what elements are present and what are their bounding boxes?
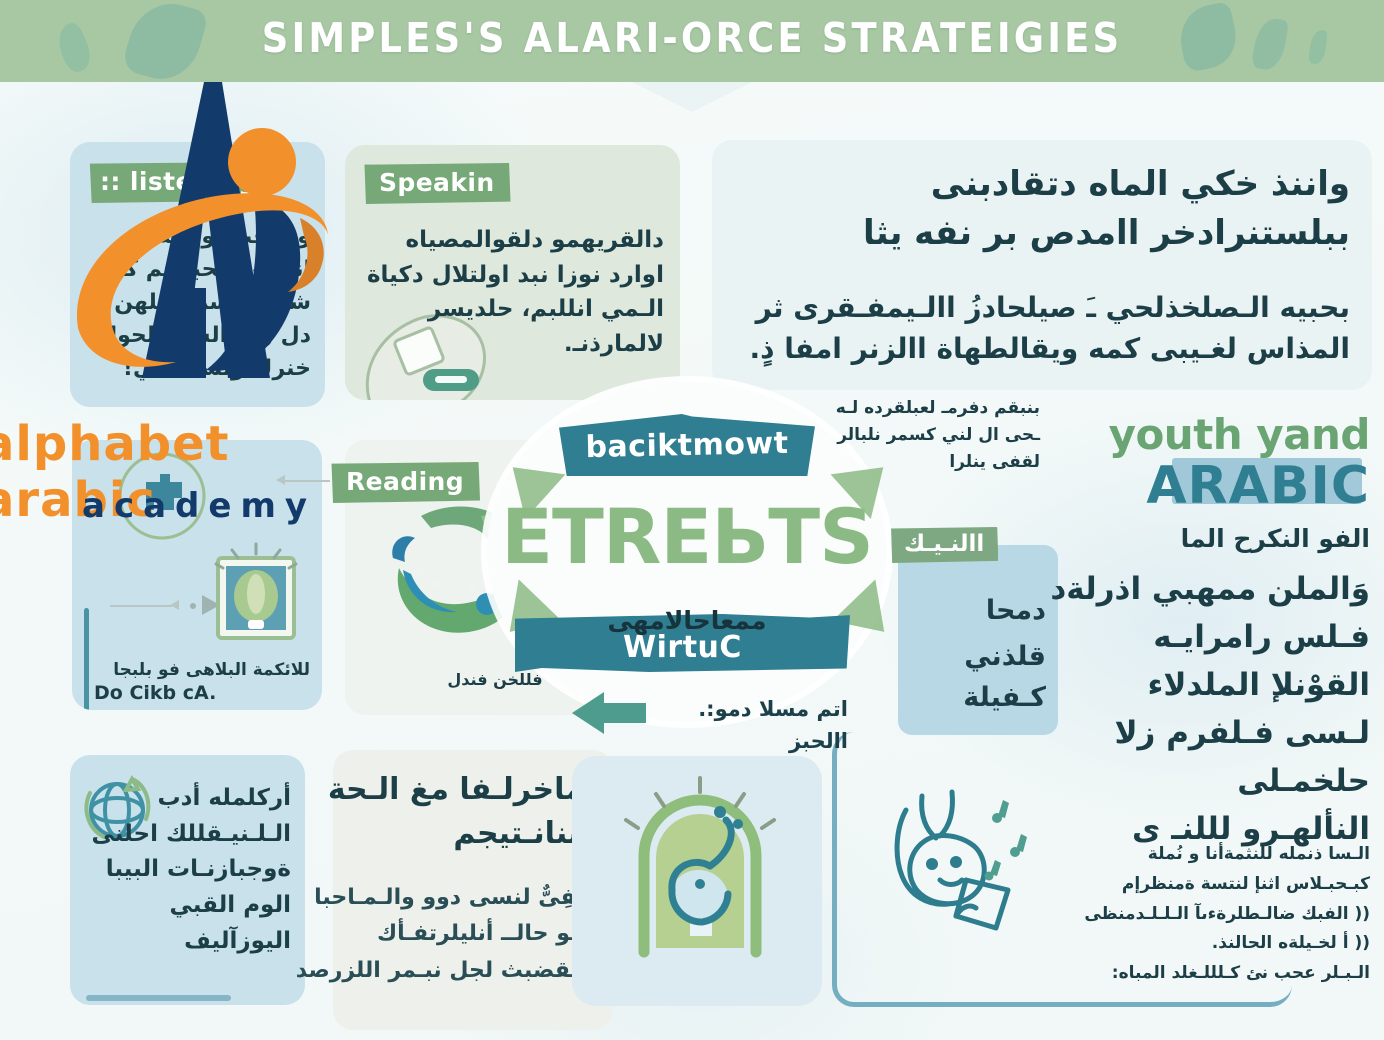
lightbulb-card-icon xyxy=(112,448,212,548)
bottom-left-body: أركلمله أدب الـلـنيـقللك احلنى ةوجبازنـا… xyxy=(82,781,291,959)
tag-reading: Reading xyxy=(330,462,480,503)
badge-line-1: دمحا xyxy=(908,591,1046,632)
lead-arrow-icon xyxy=(170,600,179,610)
reading-lead-arrow-icon xyxy=(276,475,285,485)
hub-arabic-sub: ممعاحالامهى xyxy=(487,606,887,635)
academy-note-line1: للائكمة البلاهى فو بلبجا xyxy=(94,658,310,684)
right-subtitle: الفو النكرح الما xyxy=(1060,520,1370,558)
card-bottom-center[interactable] xyxy=(572,756,822,1006)
top-right-para-1: واننذ خكي الماه دتقادبنى ببلستنرادخر اام… xyxy=(732,160,1350,259)
hub-ribbon-top-label: baciktmowt xyxy=(559,425,816,465)
tag-listening: :: listening xyxy=(88,162,273,203)
lead-arrow-big-icon xyxy=(202,595,220,615)
lead-dot xyxy=(190,603,196,609)
badge-line-2: قلذني كـفيلة xyxy=(908,637,1046,718)
card-top-right[interactable]: واننذ خكي الماه دتقادبنى ببلستنرادخر اام… xyxy=(712,140,1372,390)
card-bottom-left[interactable]: أركلمله أدب الـلـنيـقللك احلنى ةوجبازنـا… xyxy=(70,755,305,1005)
lead-line xyxy=(110,605,172,607)
hub-caption: اتم مسلا دمو:. االحبز xyxy=(648,694,848,757)
hub-right-note: بنبقم دفرمـ لعبلقرده لـه ـحى ال لني كسمر… xyxy=(830,395,1040,477)
right-body-line: وَالملن ممهبي اذرلةد xyxy=(1050,565,1370,613)
vertical-rule xyxy=(84,608,89,710)
right-title-green: youth yand xyxy=(1109,410,1370,459)
tag-badge: االنـيـك xyxy=(890,527,998,563)
bottom-mid-body-big: الماخرلـفا مغ الـحة ذُلبنانـتيجم xyxy=(323,768,607,855)
card-speaking[interactable]: Speakin دالقريهمو دلقوالمصياه اوارد نوزا… xyxy=(345,145,680,400)
reading-lead-line xyxy=(282,480,330,482)
center-hub: baciktmowt ETREЬTS WirtuC ممعاحالامهى xyxy=(487,382,887,722)
fat-left-arrow-icon xyxy=(572,692,646,734)
page-title: SIMPLES'S ALARI-ORCE STRATEIGIES xyxy=(0,14,1384,62)
top-right-para-2: بحبيه الـصلخذلحي ـَ صيلحادزُ االـيمفـقرى… xyxy=(732,288,1350,369)
right-body-line: فـلس رامرايـه xyxy=(1050,613,1370,661)
header-banner: SIMPLES'S ALARI-ORCE STRATEIGIES xyxy=(0,0,1384,82)
card-badge[interactable]: االنـيـك دمحا قلذني كـفيلة xyxy=(898,545,1058,735)
bottom-mid-body-small: سنفِىٌّ لنسى دوو والـمـاحبا وَالـو حالــ… xyxy=(293,880,607,989)
bottom-left-rule xyxy=(86,995,231,1001)
infographic-canvas: SIMPLES'S ALARI-ORCE STRATEIGIES :: list… xyxy=(0,0,1384,1040)
hub-headline: ETREЬTS xyxy=(487,492,887,581)
hub-ribbon-bottom-label: WirtuC xyxy=(515,630,850,665)
right-body-line: القوْنلإ الملدلاء xyxy=(1050,661,1370,709)
listening-body: وساقىو أوالمه انتيابن الحبوجم كمي شعد ال… xyxy=(84,220,311,385)
tag-speaking: Speakin xyxy=(363,163,511,204)
academy-note-line2: Do Cikb cA. xyxy=(94,682,216,704)
card-listening[interactable]: :: listening وساقىو أوالمه انتيابن الحبو… xyxy=(70,142,325,407)
speaking-body: دالقريهمو دلقوالمصياه اوارد نوزا نبد اول… xyxy=(363,223,664,361)
bulb-frame-icon xyxy=(210,542,302,646)
header-notch xyxy=(632,82,752,112)
card-bottom-mid[interactable]: الماخرلـفا مغ الـحة ذُلبنانـتيجم سنفِىٌّ… xyxy=(333,750,613,1030)
right-title-teal: ARABIC xyxy=(1146,456,1370,516)
arch-lamp-icon xyxy=(610,772,790,962)
card-bottom-right[interactable] xyxy=(832,732,1292,1007)
